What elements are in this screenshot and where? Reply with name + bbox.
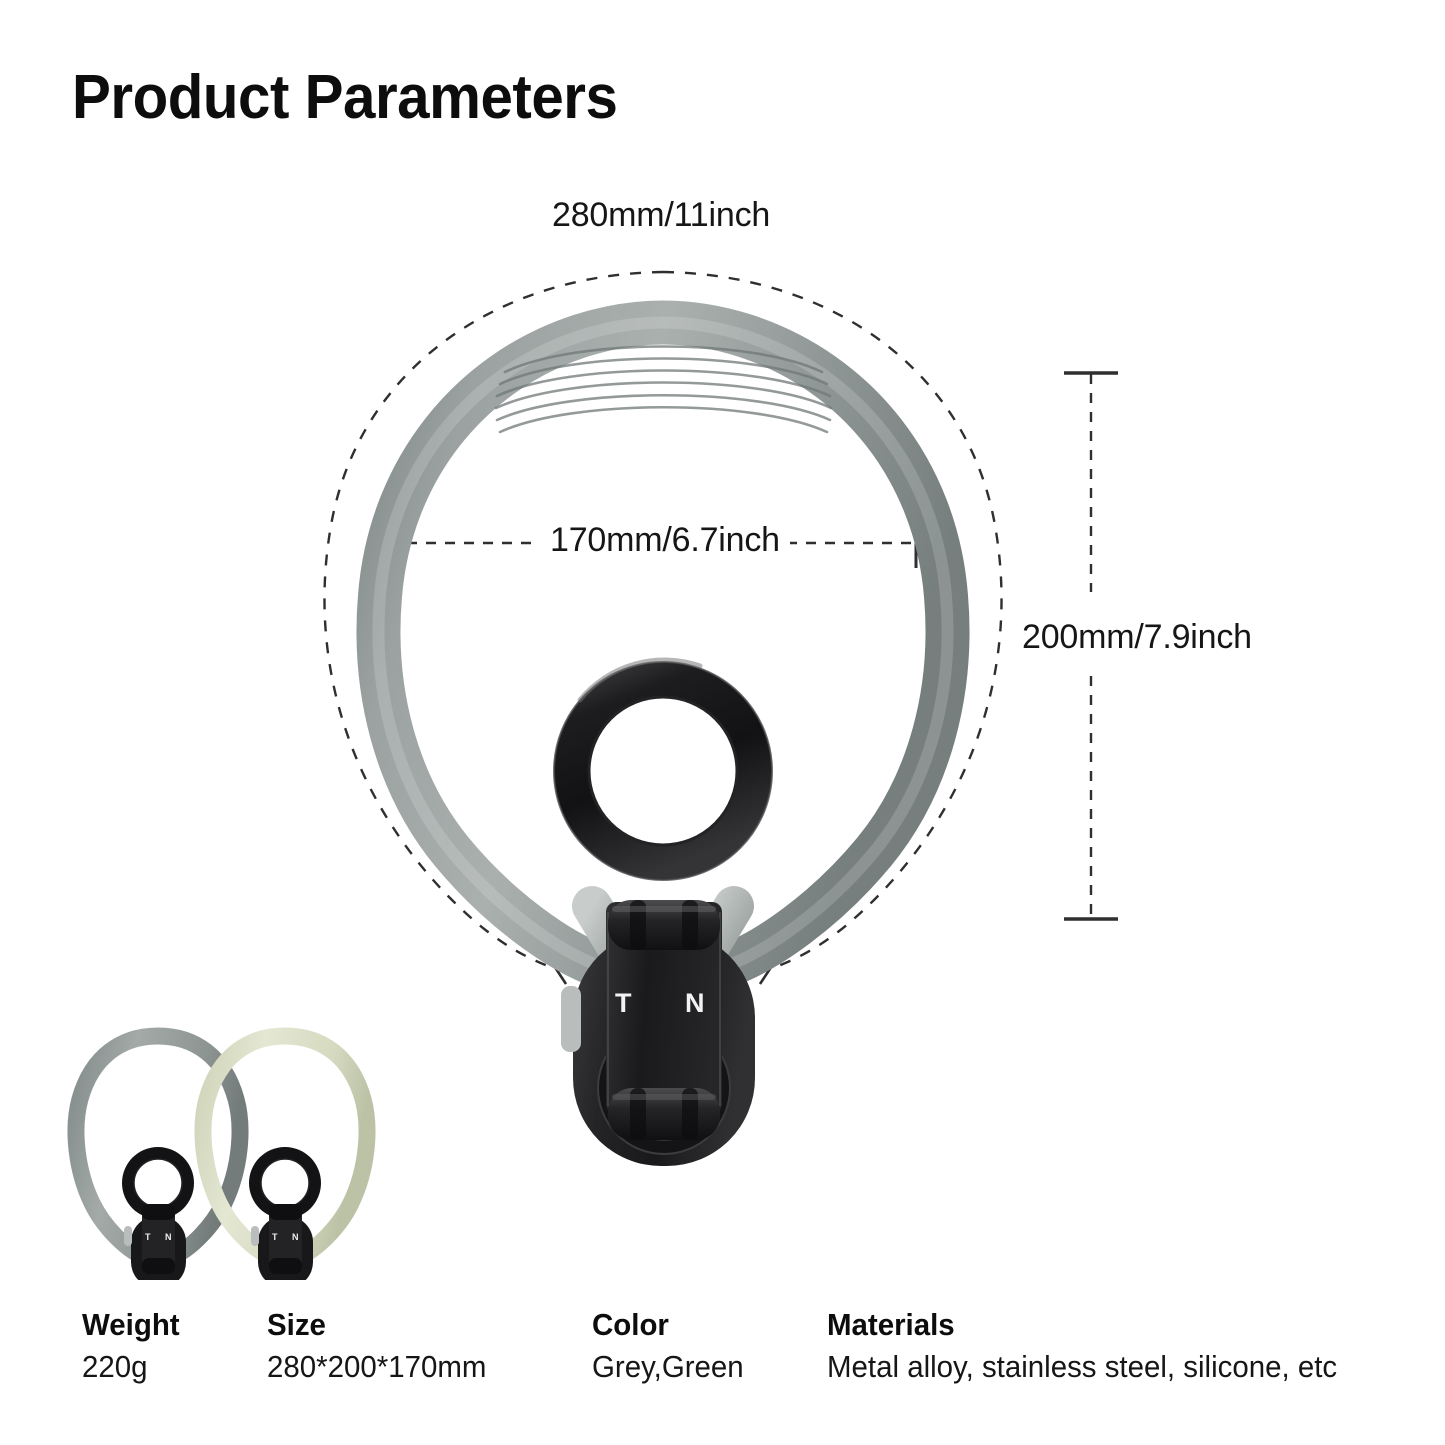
spec-column-materials: Materials Metal alloy, stainless steel, … — [827, 1305, 1364, 1389]
svg-text:N: N — [165, 1232, 172, 1242]
spec-title-materials: Materials — [827, 1305, 1337, 1345]
dimension-label-height: 200mm/7.9inch — [1022, 618, 1252, 657]
spec-title-weight: Weight — [82, 1305, 180, 1345]
product-parameters-page: Product Parameters — [0, 0, 1445, 1445]
spec-title-color: Color — [592, 1305, 744, 1345]
spec-column-weight: Weight 220g — [82, 1305, 185, 1389]
spec-title-size: Size — [267, 1305, 486, 1345]
hinge-upper — [608, 900, 720, 950]
band-texture-grooves — [496, 347, 831, 433]
hinge-lower — [608, 1088, 720, 1140]
svg-text:N: N — [292, 1232, 299, 1242]
spec-value-materials: Metal alloy, stainless steel, silicone, … — [827, 1345, 1337, 1389]
spec-column-size: Size 280*200*170mm — [267, 1305, 498, 1389]
magnetic-ring — [554, 660, 772, 880]
svg-text:T: T — [145, 1232, 151, 1242]
spec-value-weight: 220g — [82, 1345, 180, 1389]
spec-value-color: Grey,Green — [592, 1345, 744, 1389]
dimension-label-inner-width: 170mm/6.7inch — [540, 521, 790, 560]
product-neck-band: T N — [379, 323, 948, 1167]
dimension-label-width: 280mm/11inch — [552, 196, 770, 235]
side-button — [561, 986, 581, 1052]
brand-mark-right-letter: N — [685, 988, 705, 1018]
variant-thumbnail-green[interactable]: T N — [203, 1036, 367, 1280]
product-diagram: T N T N — [0, 0, 1445, 1280]
brand-mark-left-letter: T — [615, 988, 632, 1018]
svg-text:T: T — [272, 1232, 278, 1242]
spec-column-color: Color Grey,Green — [592, 1305, 752, 1389]
spec-value-size: 280*200*170mm — [267, 1345, 486, 1389]
spec-table: Weight 220g Size 280*200*170mm Color Gre… — [0, 1305, 1445, 1425]
